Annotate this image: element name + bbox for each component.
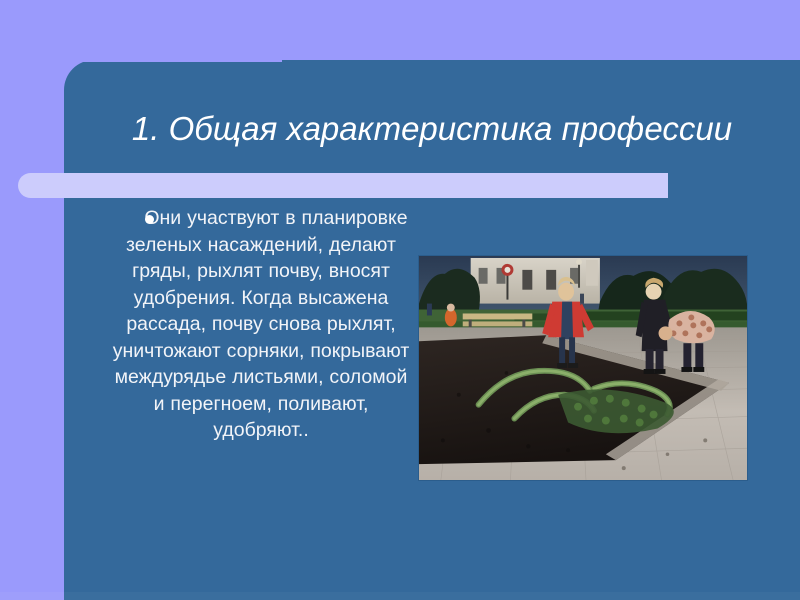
bullet-list-item: Они участвуют в планировке зеленых насаж… bbox=[104, 205, 414, 444]
decorative-purple-left-band bbox=[0, 0, 64, 600]
park-flowerbed-illustration bbox=[419, 256, 747, 480]
slide-photo bbox=[418, 255, 748, 481]
bullet-dot-icon bbox=[145, 215, 154, 224]
bullet-text: Они участвуют в планировке зеленых насаж… bbox=[104, 205, 414, 444]
slide-title: 1. Общая характеристика профессии bbox=[64, 101, 800, 157]
photo-image bbox=[419, 256, 747, 480]
decorative-purple-band-foot bbox=[0, 592, 64, 600]
panel-bottom-edge bbox=[64, 592, 800, 600]
slide-body: Они участвуют в планировке зеленых насаж… bbox=[104, 205, 414, 444]
title-accent-bar bbox=[18, 173, 668, 198]
presentation-slide: 1. Общая характеристика профессии Они уч… bbox=[0, 0, 800, 600]
slide-title-text: 1. Общая характеристика профессии bbox=[132, 111, 732, 147]
